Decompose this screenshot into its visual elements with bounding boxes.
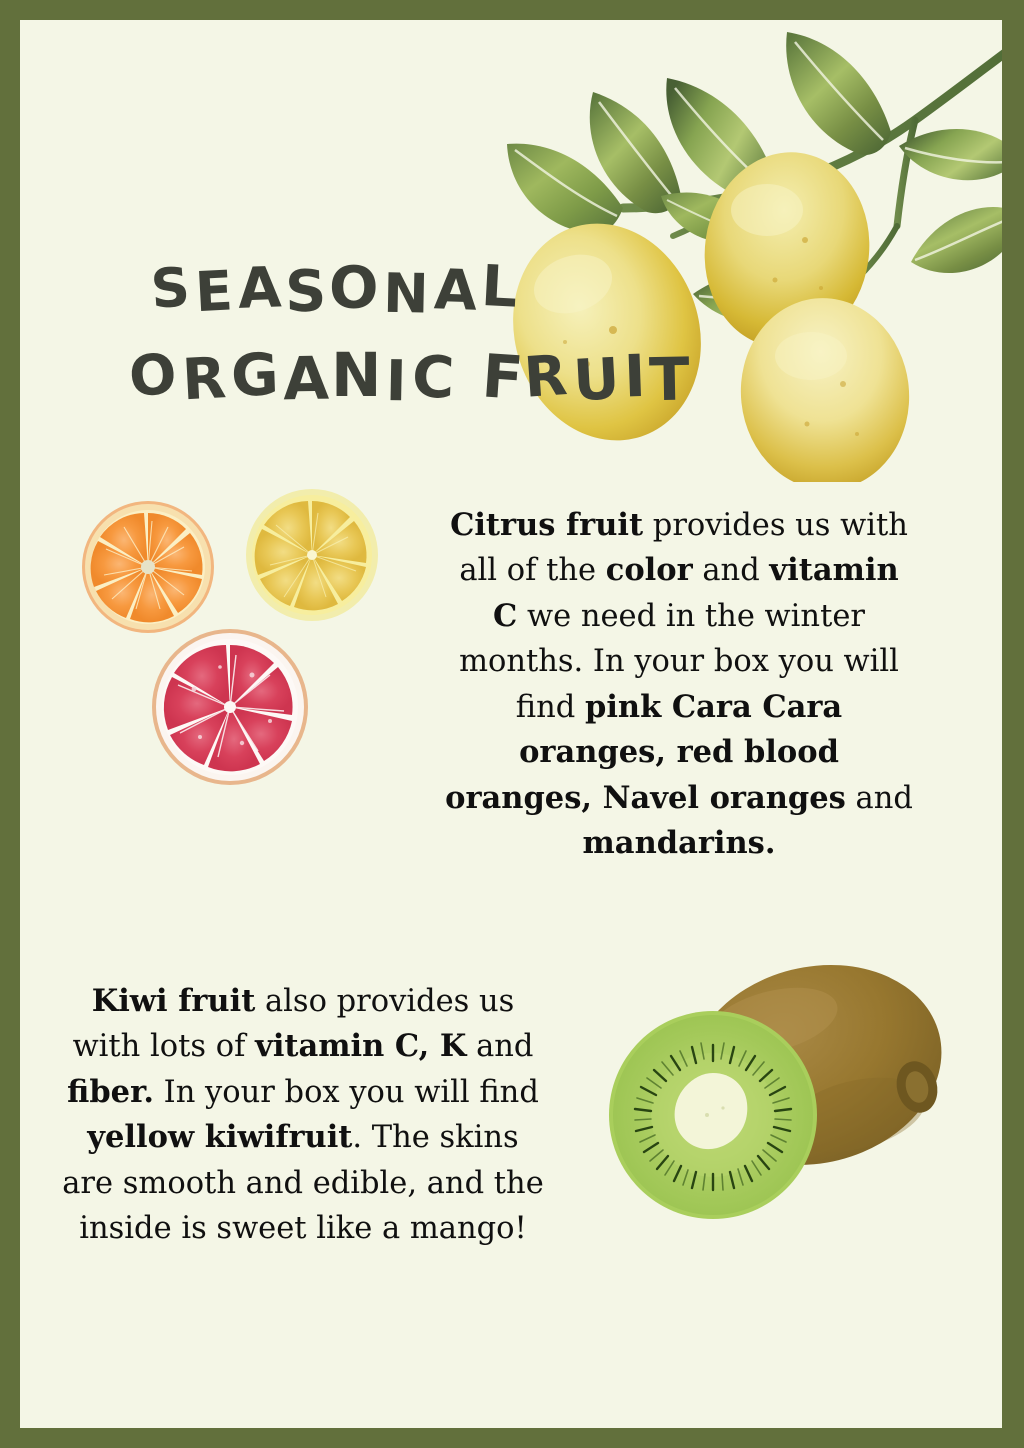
text-segment: Kiwi fruit [92, 983, 256, 1019]
text-segment: fiber. [67, 1074, 154, 1110]
text-segment: and [693, 553, 770, 588]
text-segment: and [466, 1029, 533, 1064]
lemon-slice [246, 489, 378, 621]
title-char: U [571, 336, 625, 423]
text-segment: and [846, 781, 913, 816]
citrus-slices-illustration [60, 475, 410, 815]
orange-slice [82, 501, 214, 633]
title-char: O [126, 332, 183, 418]
kiwi-description-paragraph: Kiwi fruit also provides us with lots of… [58, 979, 548, 1252]
page-title-line-1: SEASONAL [130, 248, 560, 334]
title-char: N [382, 253, 433, 337]
poster-page: SEASONAL ORGANIC FRUIT Citrus fruit prov… [20, 20, 1002, 1428]
title-char: R [521, 333, 573, 419]
title-char: A [236, 245, 286, 333]
title-char: R [180, 335, 232, 422]
text-segment: vitamin C, K [255, 1028, 466, 1064]
page-title: SEASONAL ORGANIC FRUIT [130, 248, 560, 420]
title-char: A [282, 334, 333, 423]
poster: SEASONAL ORGANIC FRUIT Citrus fruit prov… [0, 0, 1024, 1448]
title-char: S [284, 248, 331, 336]
kiwi-half [609, 1011, 817, 1219]
title-char: L [479, 243, 524, 332]
title-char: E [193, 249, 239, 335]
title-char: I [385, 339, 411, 423]
text-segment: color [606, 552, 693, 588]
text-segment: pink Cara Cara oranges, red blood orange… [445, 689, 846, 816]
text-segment: In your box you will find [154, 1075, 539, 1110]
title-char: O [329, 244, 383, 333]
title-char: I [622, 333, 651, 420]
text-segment: yellow kiwifruit [87, 1119, 352, 1155]
title-char: A [432, 248, 482, 335]
page-title-line-2: ORGANIC FRUIT [130, 334, 560, 420]
title-char: T [649, 335, 695, 423]
kiwi-illustration [565, 925, 985, 1245]
text-segment: Citrus fruit [450, 507, 643, 543]
citrus-description-paragraph: Citrus fruit provides us with all of the… [444, 503, 914, 867]
title-char: G [230, 331, 285, 419]
title-char: N [331, 330, 386, 419]
blood-orange-slice [152, 629, 308, 785]
title-char: S [148, 246, 196, 331]
text-segment: mandarins. [583, 825, 776, 861]
title-char: C [410, 334, 459, 421]
